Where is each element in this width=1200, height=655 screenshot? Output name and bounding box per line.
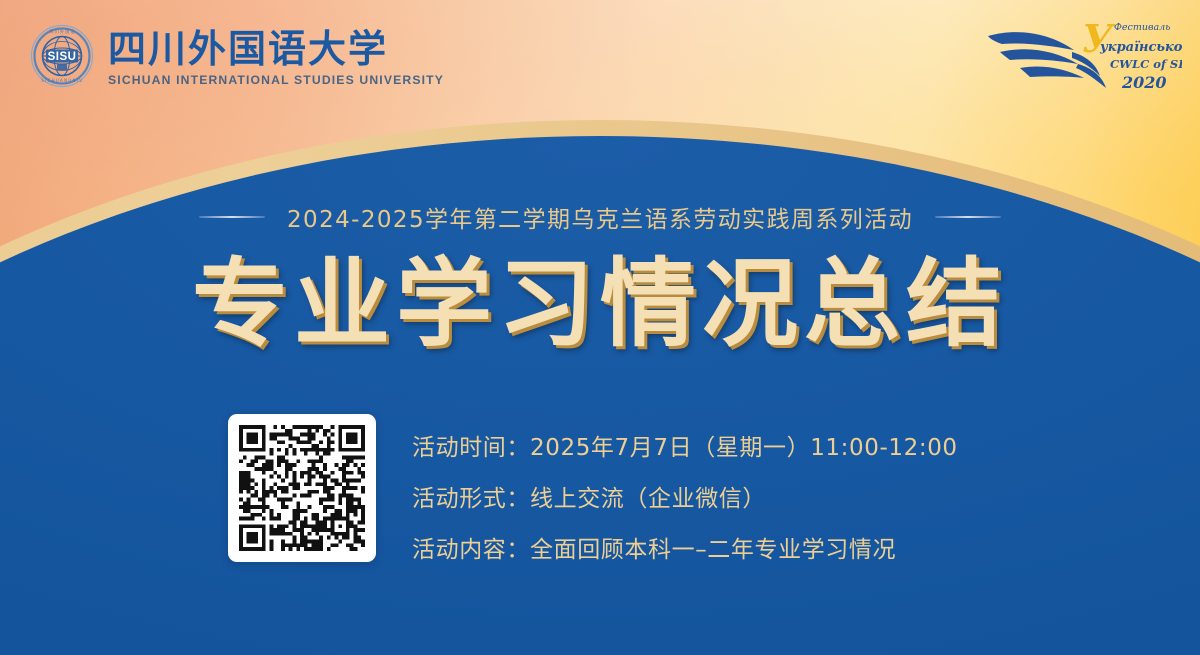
university-logo: SISU 四 川 外 国 语 S I C H U A N U N I V. 四川…: [30, 24, 444, 88]
festival-line3: CWLC of SISU: [1110, 57, 1182, 71]
festival-line2: української мови: [1099, 40, 1182, 55]
university-name-cn-text: 四川外国语大学: [108, 27, 388, 71]
subtitle-row: 2024-2025学年第二学期乌克兰语系劳动实践周系列活动: [0, 200, 1200, 234]
event-details: 活动时间：2025年7月7日（星期一）11:00-12:00 活动形式：线上交流…: [412, 428, 958, 564]
detail-format: 活动形式：线上交流（企业微信）: [412, 479, 958, 513]
sisu-seal-icon: SISU 四 川 外 国 语 S I C H U A N U N I V.: [30, 24, 94, 88]
rule-right-decoration: [935, 216, 1001, 218]
svg-text:SISU: SISU: [48, 51, 77, 63]
svg-text:四 川 外 国 语: 四 川 外 国 语: [49, 28, 74, 34]
university-name-en: SICHUAN INTERNATIONAL STUDIES UNIVERSITY: [108, 73, 444, 87]
festival-year: 2020: [1121, 73, 1167, 92]
qr-code[interactable]: [228, 414, 376, 562]
svg-text:S I C H U A N U N I V.: S I C H U A N U N I V.: [41, 78, 82, 83]
festival-logo: У Фестиваль української мови CWLC of SIS…: [982, 8, 1182, 104]
festival-line1: Фестиваль: [1114, 22, 1170, 33]
poster-root: SISU 四 川 外 国 语 S I C H U A N U N I V. 四川…: [0, 0, 1200, 655]
detail-content: 活动内容：全面回顾本科一–二年专业学习情况: [412, 530, 958, 564]
university-name-cn-calligraphy: 四川外国语大学: [108, 25, 444, 71]
page-title: 专业学习情况总结: [0, 252, 1200, 358]
rule-left-decoration: [199, 216, 265, 218]
detail-time: 活动时间：2025年7月7日（星期一）11:00-12:00: [412, 428, 958, 462]
event-subtitle: 2024-2025学年第二学期乌克兰语系劳动实践周系列活动: [287, 200, 913, 234]
